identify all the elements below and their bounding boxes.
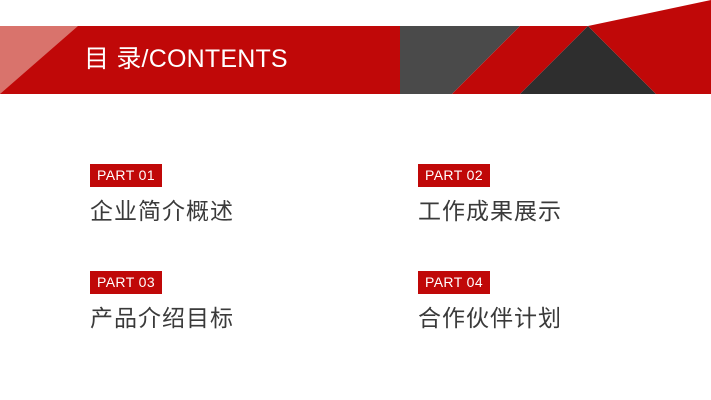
part-heading-04[interactable]: 合作伙伴计划 bbox=[418, 303, 708, 333]
part-badge-03[interactable]: PART 03 bbox=[90, 271, 162, 294]
contents-item-1[interactable]: PART 01 企业简介概述 bbox=[90, 164, 380, 226]
part-heading-02[interactable]: 工作成果展示 bbox=[418, 196, 708, 226]
part-badge-01[interactable]: PART 01 bbox=[90, 164, 162, 187]
slide-canvas: 目 录/CONTENTS PART 01 企业简介概述 PART 02 工作成果… bbox=[0, 0, 711, 400]
contents-item-4[interactable]: PART 04 合作伙伴计划 bbox=[418, 271, 708, 333]
part-heading-03[interactable]: 产品介绍目标 bbox=[90, 303, 380, 333]
part-badge-02[interactable]: PART 02 bbox=[418, 164, 490, 187]
contents-item-2[interactable]: PART 02 工作成果展示 bbox=[418, 164, 708, 226]
part-badge-04[interactable]: PART 04 bbox=[418, 271, 490, 294]
contents-item-3[interactable]: PART 03 产品介绍目标 bbox=[90, 271, 380, 333]
contents-grid: PART 01 企业简介概述 PART 02 工作成果展示 PART 03 产品… bbox=[0, 0, 711, 400]
part-heading-01[interactable]: 企业简介概述 bbox=[90, 196, 380, 226]
